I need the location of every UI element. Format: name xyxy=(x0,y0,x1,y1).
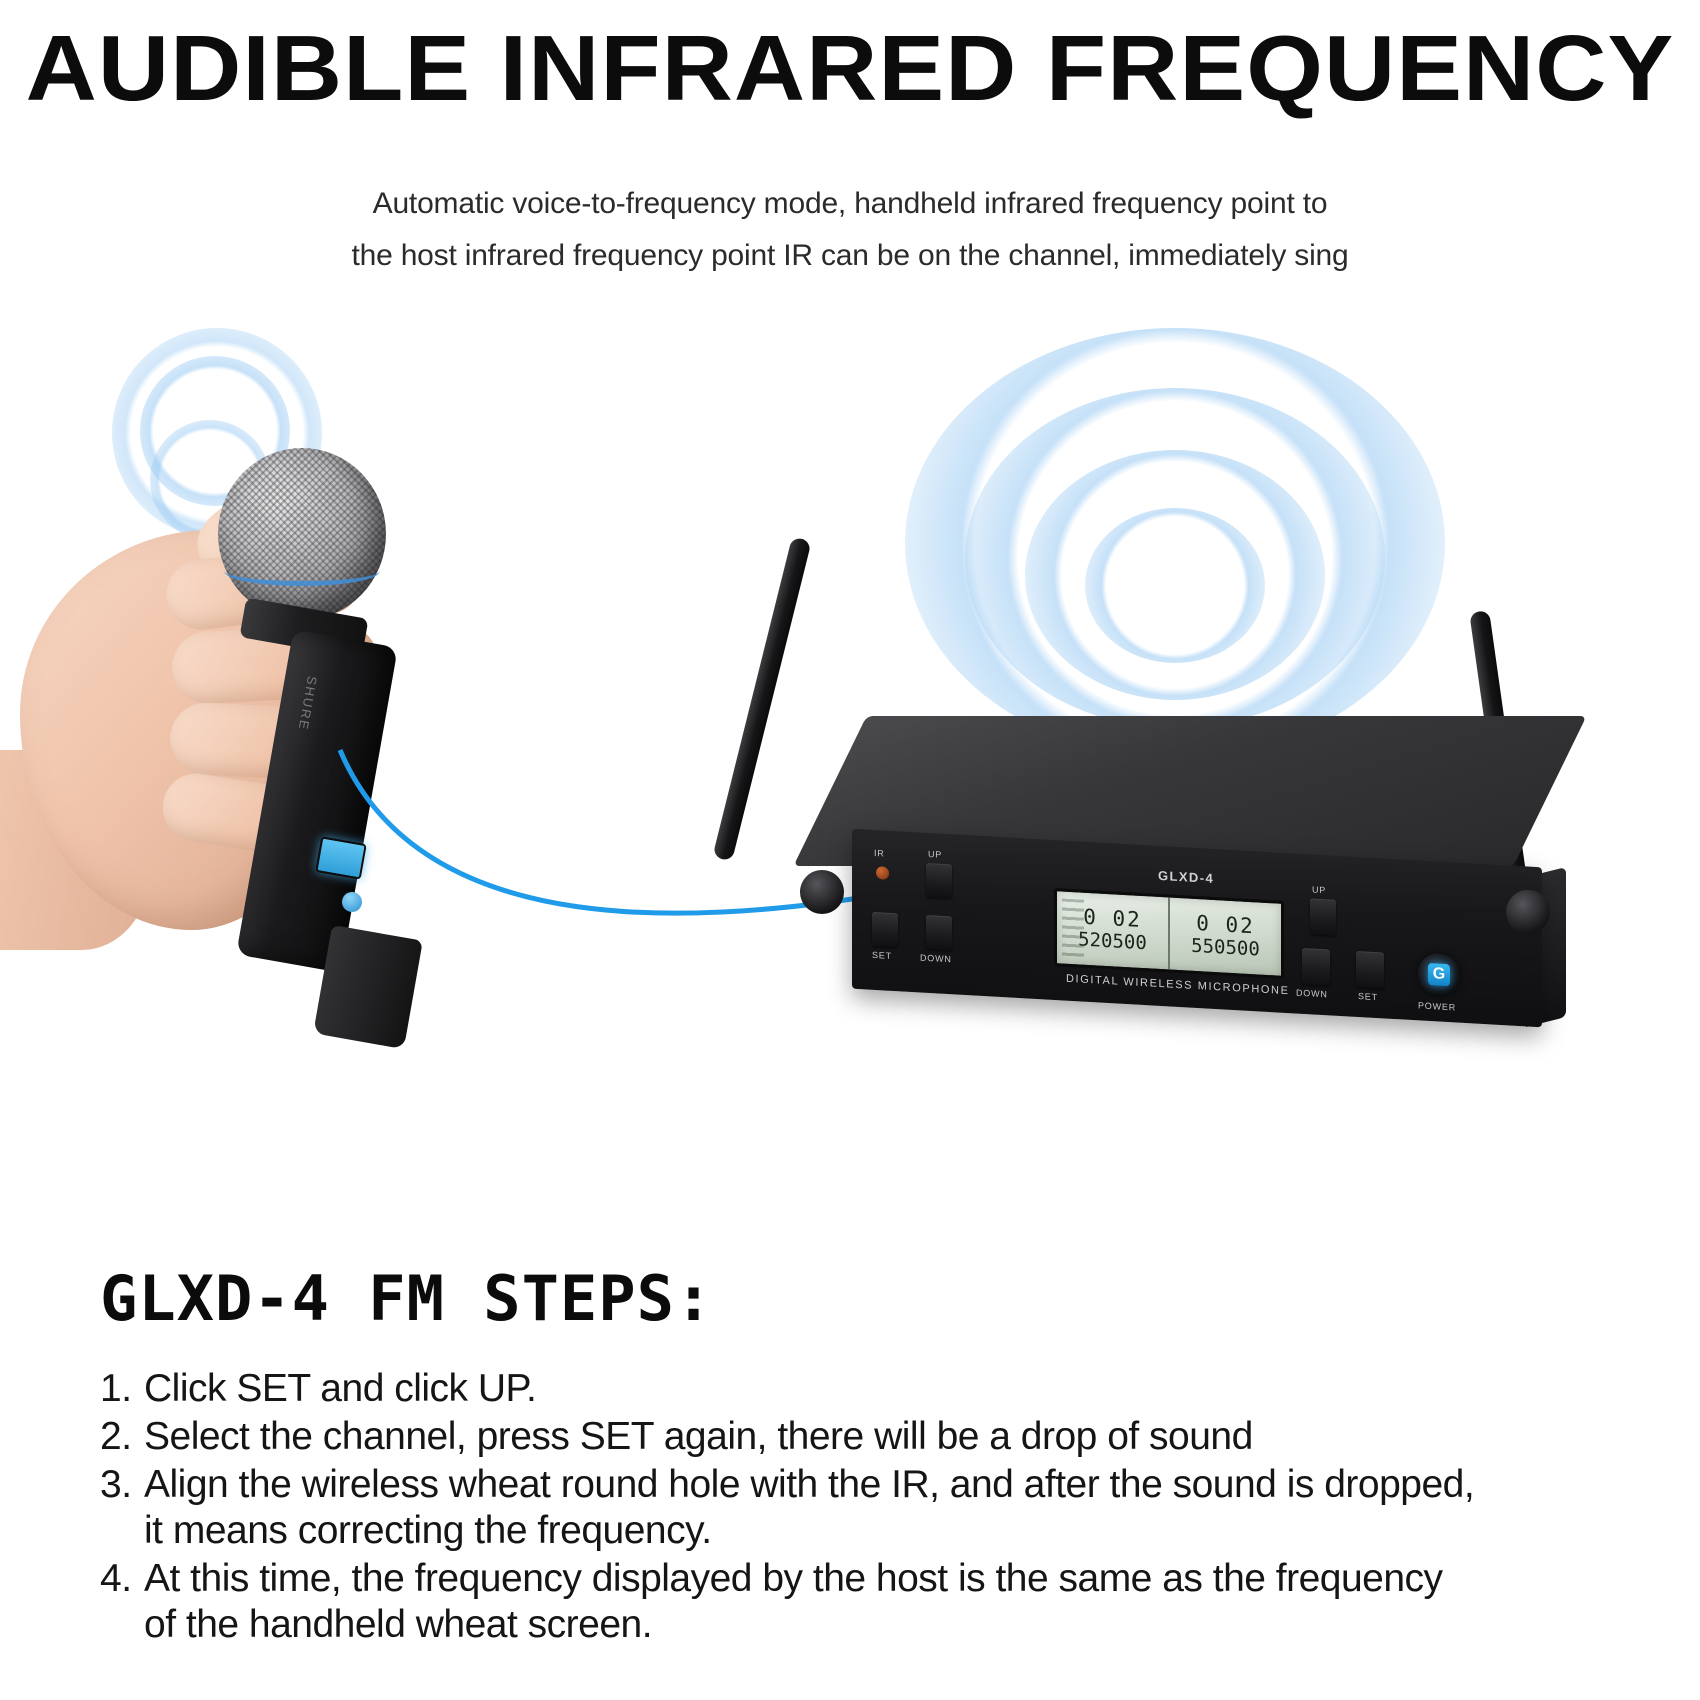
page-subtitle: Automatic voice-to-frequency mode, handh… xyxy=(230,178,1470,281)
lcd-frequency-a-value: 520500 xyxy=(1078,929,1147,954)
down-button-left[interactable] xyxy=(926,915,952,950)
receiver-lcd-display: 0 02 520500 0 02 550500 xyxy=(1054,888,1284,979)
receiver-unit: IR UP SET DOWN 0 02 520500 0 02 550500 xyxy=(700,500,1600,1060)
step-number: 1. xyxy=(100,1366,144,1412)
step-text: Click SET and click UP. xyxy=(144,1366,1480,1412)
lcd-channel-a: 0 02 520500 xyxy=(1057,891,1168,969)
step-text: Align the wireless wheat round hole with… xyxy=(144,1462,1480,1554)
set-button-left[interactable] xyxy=(872,912,898,947)
set-button-right[interactable] xyxy=(1356,951,1384,989)
lcd-channel-b: 0 02 550500 xyxy=(1168,897,1281,975)
lcd-channel-b-value: 0 02 xyxy=(1196,913,1255,937)
up-button-right[interactable] xyxy=(1310,898,1336,935)
subtitle-line-2: the host infrared frequency point IR can… xyxy=(230,230,1470,282)
receiver-model-label: GLXD-4 xyxy=(1158,868,1214,886)
subtitle-line-1: Automatic voice-to-frequency mode, handh… xyxy=(230,178,1470,230)
step-number: 3. xyxy=(100,1462,144,1508)
down-label-left: DOWN xyxy=(920,953,952,965)
antenna-connector-left xyxy=(800,870,844,914)
step-item: 3. Align the wireless wheat round hole w… xyxy=(100,1462,1480,1554)
step-number: 2. xyxy=(100,1414,144,1460)
steps-list: 1. Click SET and click UP. 2. Select the… xyxy=(100,1366,1480,1650)
step-text: At this time, the frequency displayed by… xyxy=(144,1556,1480,1648)
step-number: 4. xyxy=(100,1556,144,1602)
product-photo-stage: SHURE IR UP SET DOWN xyxy=(0,300,1700,1180)
up-button-left[interactable] xyxy=(926,863,952,898)
ir-label: IR xyxy=(874,848,885,859)
step-item: 2. Select the channel, press SET again, … xyxy=(100,1414,1480,1460)
power-label: POWER xyxy=(1418,1000,1456,1012)
up-label-right: UP xyxy=(1312,884,1326,895)
up-label-left: UP xyxy=(928,849,942,860)
step-item: 4. At this time, the frequency displayed… xyxy=(100,1556,1480,1648)
step-item: 1. Click SET and click UP. xyxy=(100,1366,1480,1412)
antenna-left xyxy=(712,536,811,861)
lcd-frequency-b-value: 550500 xyxy=(1191,936,1260,961)
down-label-right: DOWN xyxy=(1296,988,1328,1000)
step-text: Select the channel, press SET again, the… xyxy=(144,1414,1480,1460)
page-title: AUDIBLE INFRARED FREQUENCY xyxy=(0,22,1700,115)
down-button-right[interactable] xyxy=(1302,948,1330,986)
lcd-channel-a-value: 0 02 xyxy=(1083,907,1142,931)
set-label-right: SET xyxy=(1358,991,1378,1002)
lcd-signal-bars-icon xyxy=(1062,899,1084,960)
set-label-left: SET xyxy=(872,950,892,961)
power-button-glyph: G xyxy=(1428,963,1450,986)
steps-heading: GLXD-4 FM STEPS: xyxy=(100,1262,713,1335)
ir-indicator-icon xyxy=(876,866,889,880)
power-button[interactable]: G xyxy=(1418,952,1460,996)
mic-blue-ring xyxy=(224,556,380,586)
mic-grille xyxy=(218,448,386,620)
